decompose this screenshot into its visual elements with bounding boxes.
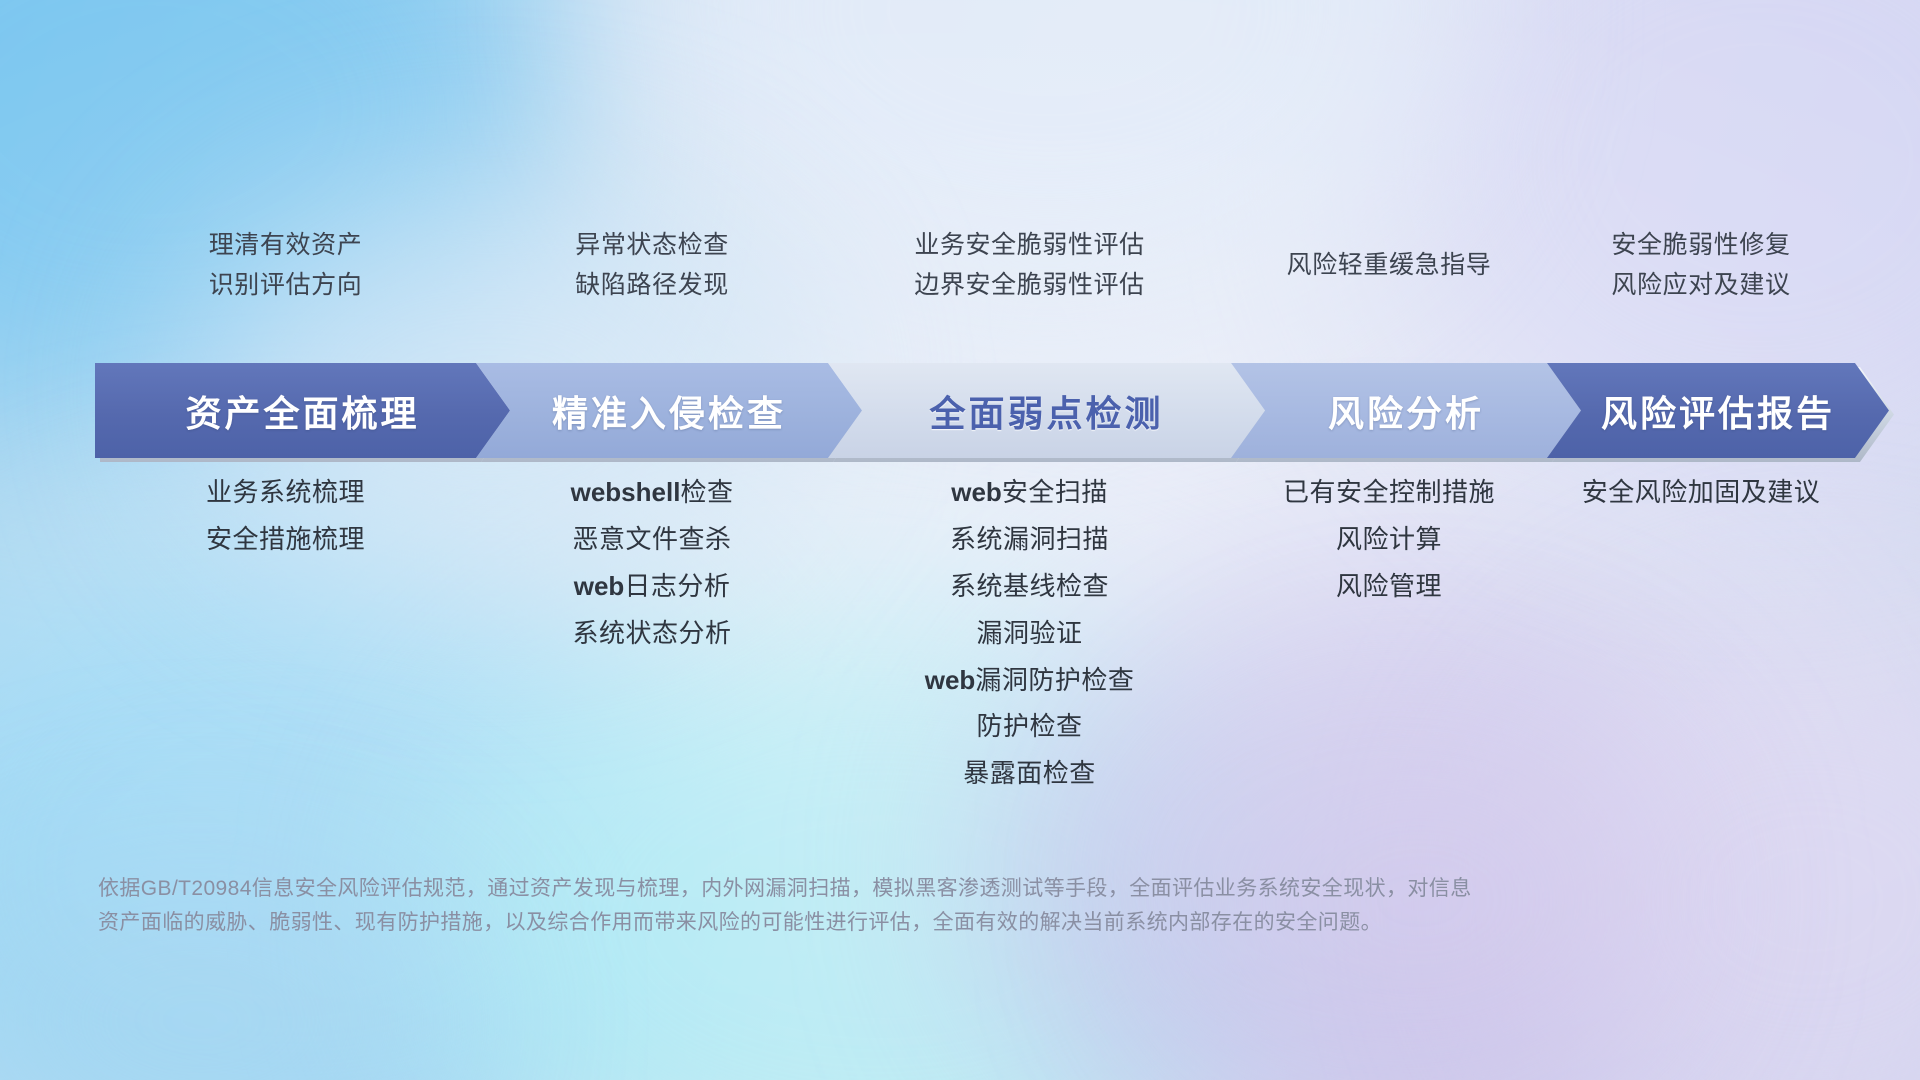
- list-item: 系统状态分析: [573, 619, 732, 649]
- bottom-item-lists: 业务系统梳理安全措施梳理webshell检查恶意文件查杀web日志分析系统状态分…: [95, 478, 1855, 789]
- footer-description: 依据GB/T20984信息安全风险评估规范，通过资产发现与梳理，内外网漏洞扫描，…: [98, 872, 1628, 940]
- top-note-column-1: 理清有效资产识别评估方向: [95, 220, 476, 310]
- top-note-line: 理清有效资产: [209, 233, 363, 258]
- top-note-line: 异常状态检查: [575, 233, 729, 258]
- top-note-line: 缺陷路径发现: [575, 273, 729, 298]
- process-stage-5[interactable]: 风险评估报告: [1547, 363, 1889, 458]
- top-note-line: 业务安全脆弱性评估: [914, 233, 1144, 258]
- process-stage-label: 全面弱点检测: [930, 385, 1164, 437]
- process-stage-4[interactable]: 风险分析: [1231, 363, 1581, 458]
- footer-line-2: 资产面临的威胁、脆弱性、现有防护措施，以及综合作用而带来风险的可能性进行评估，全…: [98, 906, 1628, 940]
- top-note-column-5: 安全脆弱性修复风险应对及建议: [1547, 220, 1855, 310]
- list-item: 系统漏洞扫描: [950, 525, 1109, 555]
- list-item: 已有安全控制措施: [1283, 478, 1495, 508]
- footer-line-1: 依据GB/T20984信息安全风险评估规范，通过资产发现与梳理，内外网漏洞扫描，…: [98, 872, 1628, 906]
- list-item: web日志分析: [574, 572, 731, 602]
- process-stage-label: 资产全面梳理: [186, 385, 420, 437]
- top-note-line: 安全脆弱性修复: [1611, 233, 1790, 258]
- item-list-column-2: webshell检查恶意文件查杀web日志分析系统状态分析: [476, 478, 828, 649]
- list-item: 防护检查: [977, 712, 1083, 742]
- process-diagram: 理清有效资产识别评估方向异常状态检查缺陷路径发现业务安全脆弱性评估边界安全脆弱性…: [0, 0, 1920, 1080]
- list-item: 安全风险加固及建议: [1582, 478, 1821, 508]
- item-list-column-3: web安全扫描系统漏洞扫描系统基线检查漏洞验证web漏洞防护检查防护检查暴露面检…: [828, 478, 1231, 789]
- list-item: 恶意文件查杀: [573, 525, 732, 555]
- list-item: web安全扫描: [951, 478, 1108, 508]
- list-item: 暴露面检查: [963, 759, 1096, 789]
- process-stage-2[interactable]: 精准入侵检查: [476, 363, 862, 458]
- list-item: 安全措施梳理: [206, 525, 365, 555]
- process-stage-label: 风险分析: [1328, 385, 1484, 437]
- process-stage-label: 风险评估报告: [1601, 385, 1835, 437]
- list-item: web漏洞防护检查: [925, 666, 1135, 696]
- top-note-line: 边界安全脆弱性评估: [914, 273, 1144, 298]
- process-stage-label: 精准入侵检查: [552, 385, 786, 437]
- list-item: webshell检查: [571, 478, 734, 508]
- process-chevron-banner: 资产全面梳理精准入侵检查全面弱点检测风险分析风险评估报告: [95, 363, 1855, 458]
- list-item: 风险计算: [1336, 525, 1442, 555]
- top-note-column-2: 异常状态检查缺陷路径发现: [476, 220, 828, 310]
- process-stage-1[interactable]: 资产全面梳理: [95, 363, 510, 458]
- item-list-column-5: 安全风险加固及建议: [1547, 478, 1855, 508]
- item-list-column-1: 业务系统梳理安全措施梳理: [95, 478, 476, 555]
- list-item: 业务系统梳理: [206, 478, 365, 508]
- top-note-line: 风险应对及建议: [1611, 273, 1790, 298]
- top-note-column-4: 风险轻重缓急指导: [1231, 220, 1547, 310]
- list-item: 漏洞验证: [977, 619, 1083, 649]
- item-list-column-4: 已有安全控制措施风险计算风险管理: [1231, 478, 1547, 602]
- top-note-line: 识别评估方向: [209, 273, 363, 298]
- top-notes-row: 理清有效资产识别评估方向异常状态检查缺陷路径发现业务安全脆弱性评估边界安全脆弱性…: [95, 220, 1855, 310]
- list-item: 系统基线检查: [950, 572, 1109, 602]
- top-note-column-3: 业务安全脆弱性评估边界安全脆弱性评估: [828, 220, 1231, 310]
- process-stage-3[interactable]: 全面弱点检测: [828, 363, 1265, 458]
- list-item: 风险管理: [1336, 572, 1442, 602]
- top-note-line: 风险轻重缓急指导: [1287, 253, 1492, 278]
